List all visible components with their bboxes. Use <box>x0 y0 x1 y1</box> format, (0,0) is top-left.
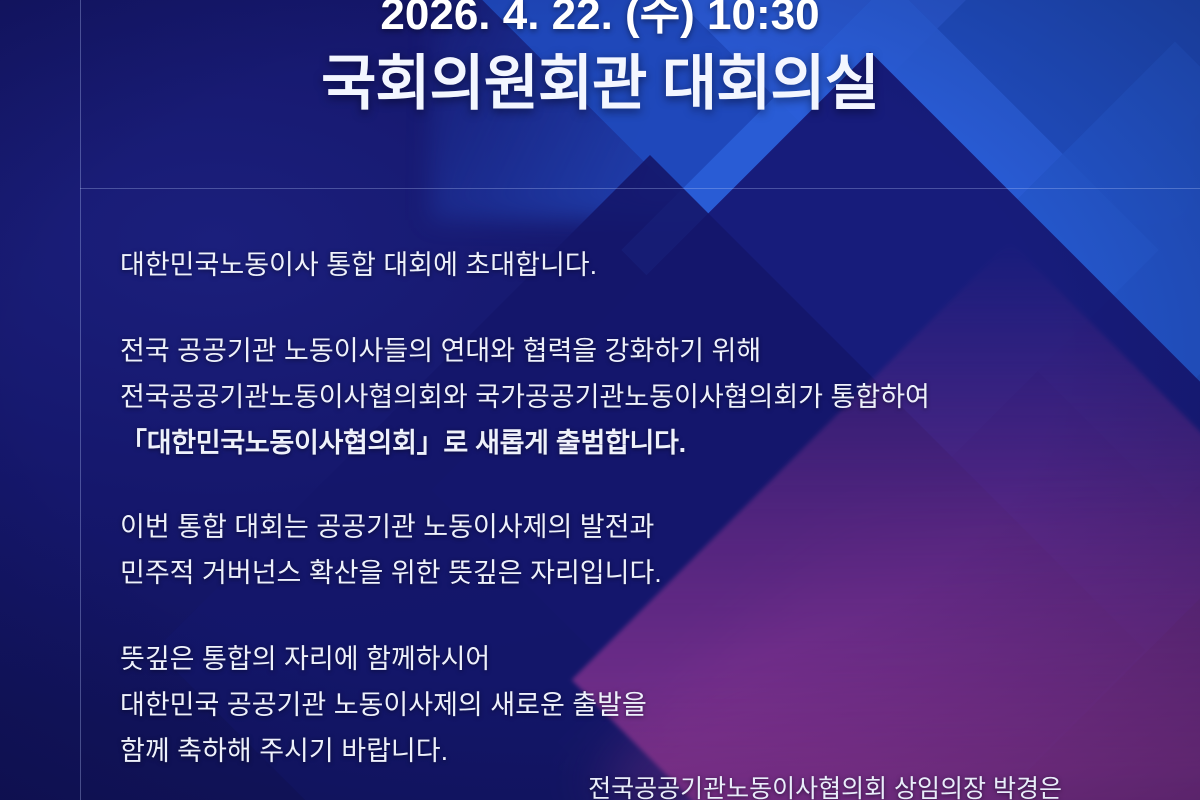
paragraph-line: 대한민국노동이사 통합 대회에 초대합니다. <box>120 242 1100 288</box>
paragraph-line: 뜻깊은 통합의 자리에 함께하시어 <box>120 636 1100 682</box>
paragraph-line: 대한민국 공공기관 노동이사제의 새로운 출발을 <box>120 682 1100 728</box>
vertical-guide-rule <box>80 0 81 800</box>
paragraph-line: 전국 공공기관 노동이사들의 연대와 협력을 강화하기 위해 <box>120 328 1100 374</box>
paragraph-line: 이번 통합 대회는 공공기관 노동이사제의 발전과 <box>120 504 1100 550</box>
paragraph-line: 전국공공기관노동이사협의회와 국가공공기관노동이사협의회가 통합하여 <box>120 374 1100 420</box>
paragraph-line-organization-name: 「대한민국노동이사협의회」로 새롭게 출범합니다. <box>120 420 1100 466</box>
event-date-time: 2026. 4. 22. (수) 10:30 <box>0 0 1200 38</box>
event-venue: 국회의원회관 대회의실 <box>0 50 1200 118</box>
signature-line: 전국공공기관노동이사협의회 상임의장 박경은 <box>588 772 1062 800</box>
paragraph-invitation: 대한민국노동이사 통합 대회에 초대합니다. <box>120 242 1100 288</box>
paragraph-request: 뜻깊은 통합의 자리에 함께하시어 대한민국 공공기관 노동이사제의 새로운 출… <box>120 636 1100 774</box>
poster-canvas: 2026. 4. 22. (수) 10:30 국회의원회관 대회의실 대한민국노… <box>0 0 1200 800</box>
paragraph-purpose: 이번 통합 대회는 공공기관 노동이사제의 발전과 민주적 거버넌스 확산을 위… <box>120 504 1100 596</box>
paragraph-line: 민주적 거버넌스 확산을 위한 뜻깊은 자리입니다. <box>120 550 1100 596</box>
paragraph-merger: 전국 공공기관 노동이사들의 연대와 협력을 강화하기 위해 전국공공기관노동이… <box>120 328 1100 466</box>
paragraph-line: 함께 축하해 주시기 바랍니다. <box>120 728 1100 774</box>
poster-header: 2026. 4. 22. (수) 10:30 국회의원회관 대회의실 <box>0 0 1200 118</box>
invitation-body: 대한민국노동이사 통합 대회에 초대합니다. 전국 공공기관 노동이사들의 연대… <box>120 242 1100 800</box>
horizontal-guide-rule <box>80 188 1200 189</box>
